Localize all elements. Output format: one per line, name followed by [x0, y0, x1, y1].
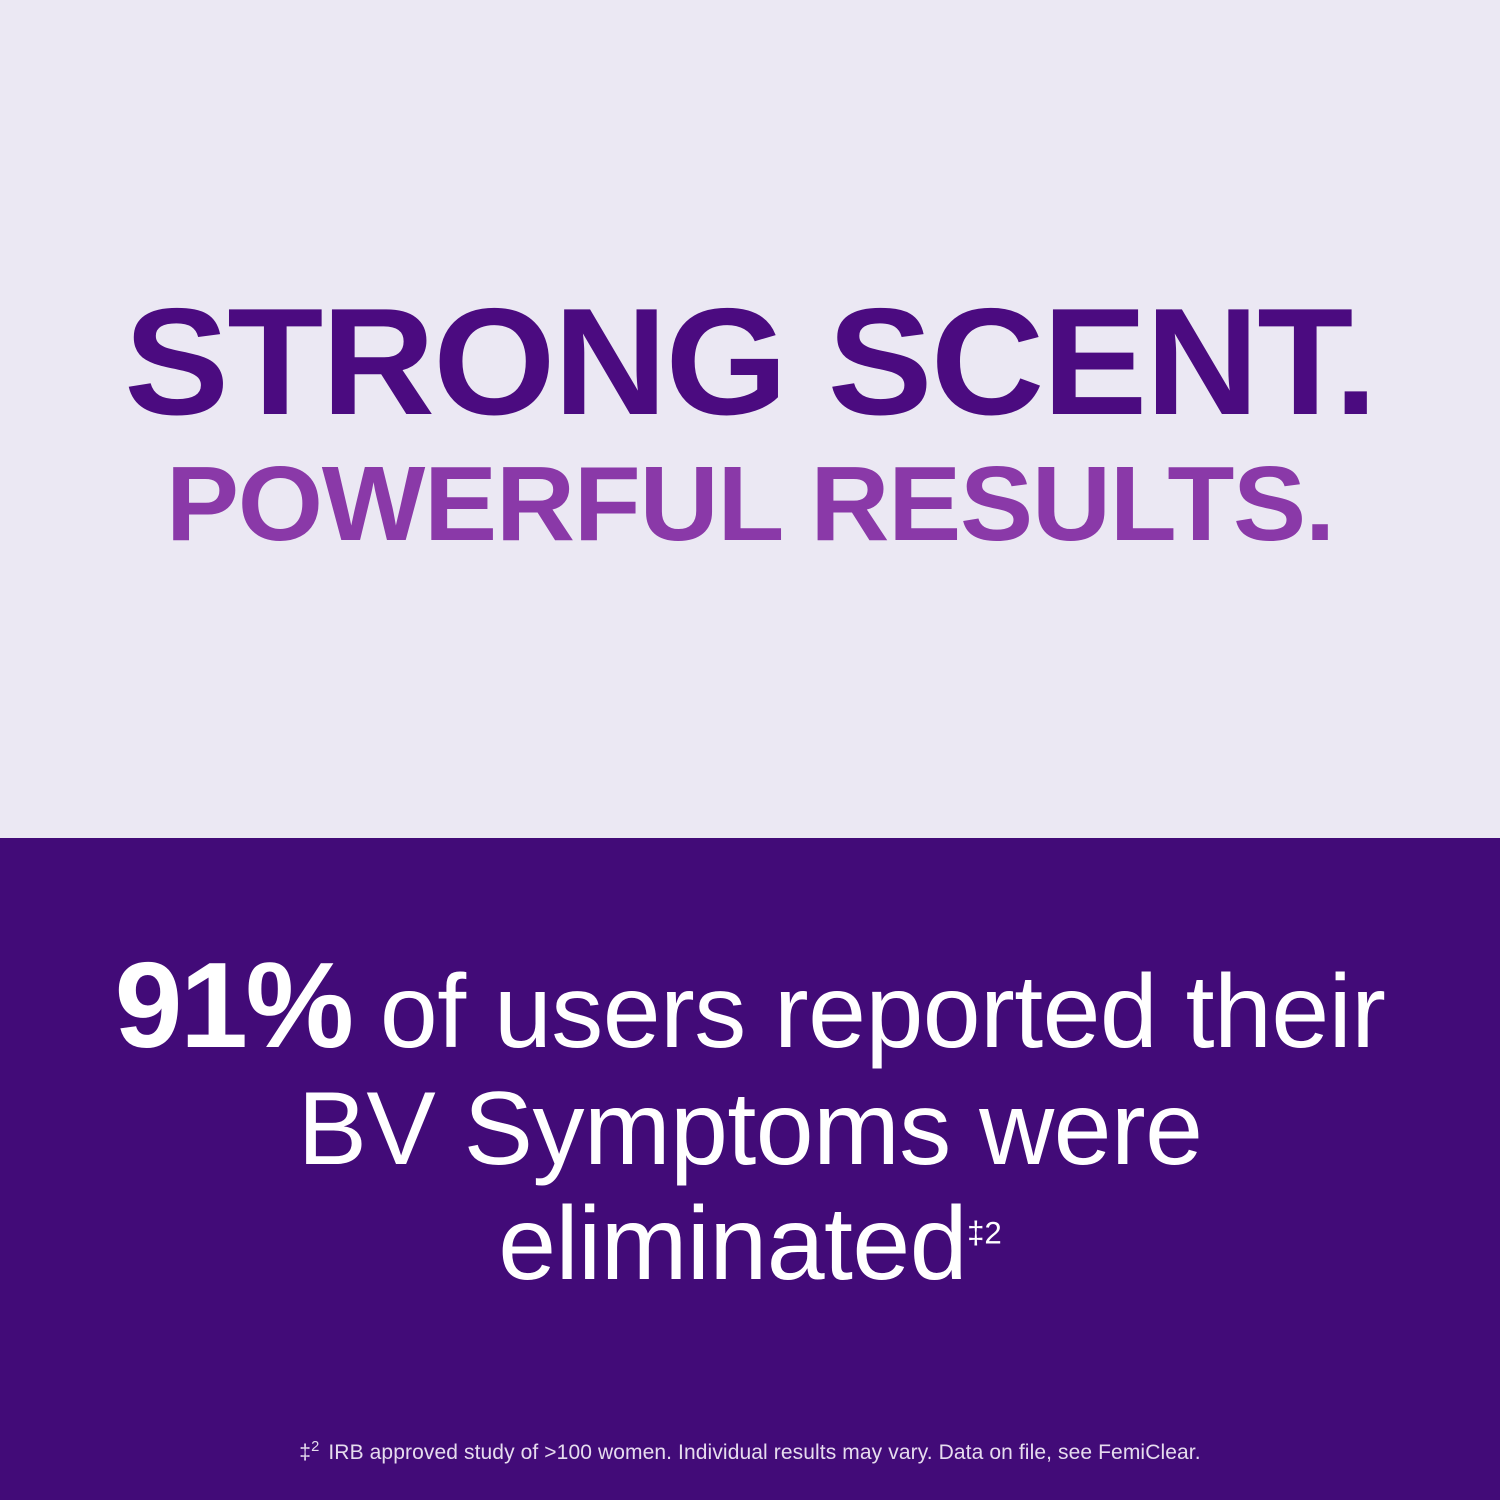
- footnote-text: IRB approved study of >100 women. Indivi…: [328, 1441, 1200, 1464]
- footnote: ‡2IRB approved study of >100 women. Indi…: [0, 1439, 1500, 1465]
- footnote-marker-icon: ‡2: [299, 1441, 319, 1464]
- headline-line-secondary: POWERFUL RESULTS.: [0, 455, 1500, 554]
- stat-panel: 91% of users reported their BV Symptoms …: [0, 838, 1500, 1500]
- stat-footnote-marker: ‡2: [967, 1215, 1002, 1250]
- headline-line-primary: STRONG SCENT.: [0, 292, 1500, 433]
- stat-claim: 91% of users reported their BV Symptoms …: [110, 938, 1390, 1301]
- footnote-dagger-superscript: 2: [311, 1439, 319, 1455]
- stat-claim-text: of users reported their BV Symptoms were…: [298, 954, 1386, 1302]
- headline-panel: STRONG SCENT. POWERFUL RESULTS.: [0, 0, 1500, 838]
- stat-percentage: 91%: [115, 937, 352, 1073]
- footnote-dagger: ‡: [299, 1441, 311, 1464]
- ad-canvas: STRONG SCENT. POWERFUL RESULTS. 91% of u…: [0, 0, 1500, 1500]
